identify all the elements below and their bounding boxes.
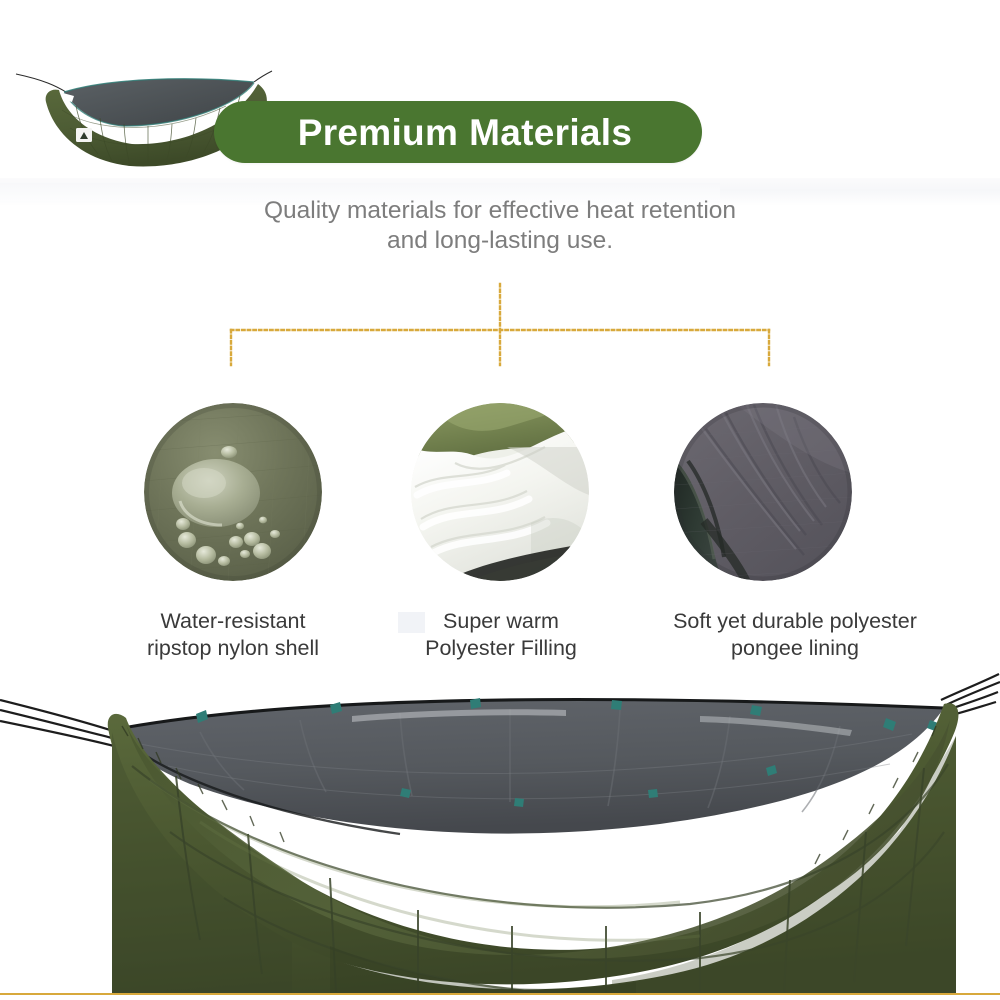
material-captions: Water-resistant ripstop nylon shell Supe… [0, 608, 1000, 670]
subtitle-line-2: and long-lasting use. [0, 226, 1000, 256]
infographic-page: PremiumMaterials Quality materials for e… [0, 0, 1000, 1000]
caption-1-line-2: ripstop nylon shell [88, 635, 378, 662]
caption-1-line-1: Water-resistant [88, 608, 378, 635]
caption-pongee-lining: Soft yet durable polyester pongee lining [630, 608, 960, 662]
banner-title: PremiumMaterials [284, 114, 633, 151]
premium-materials-banner: PremiumMaterials [214, 101, 702, 163]
banner-title-word-1: Premium [298, 112, 458, 153]
caption-2-line-1: Super warm [370, 608, 632, 635]
water-beading-fabric-swatch [144, 403, 322, 581]
caption-3-line-1: Soft yet durable polyester [630, 608, 960, 635]
caption-polyester-filling: Super warm Polyester Filling [370, 608, 632, 662]
banner-title-word-2: Materials [469, 112, 632, 153]
caption-water-resistant-shell: Water-resistant ripstop nylon shell [88, 608, 378, 662]
pongee-lining-swatch [674, 403, 852, 581]
material-swatch-row [0, 403, 1000, 585]
subtitle-line-1: Quality materials for effective heat ret… [264, 197, 736, 224]
subtitle: Quality materials for effective heat ret… [0, 196, 1000, 256]
caption-3-line-2: pongee lining [630, 635, 960, 662]
caption-2-line-2: Polyester Filling [370, 635, 632, 662]
bottom-divider [0, 993, 1000, 995]
dotted-bracket-connector [210, 282, 790, 377]
polyester-filling-swatch [411, 403, 589, 581]
hammock-underquilt-hero [0, 672, 1000, 994]
